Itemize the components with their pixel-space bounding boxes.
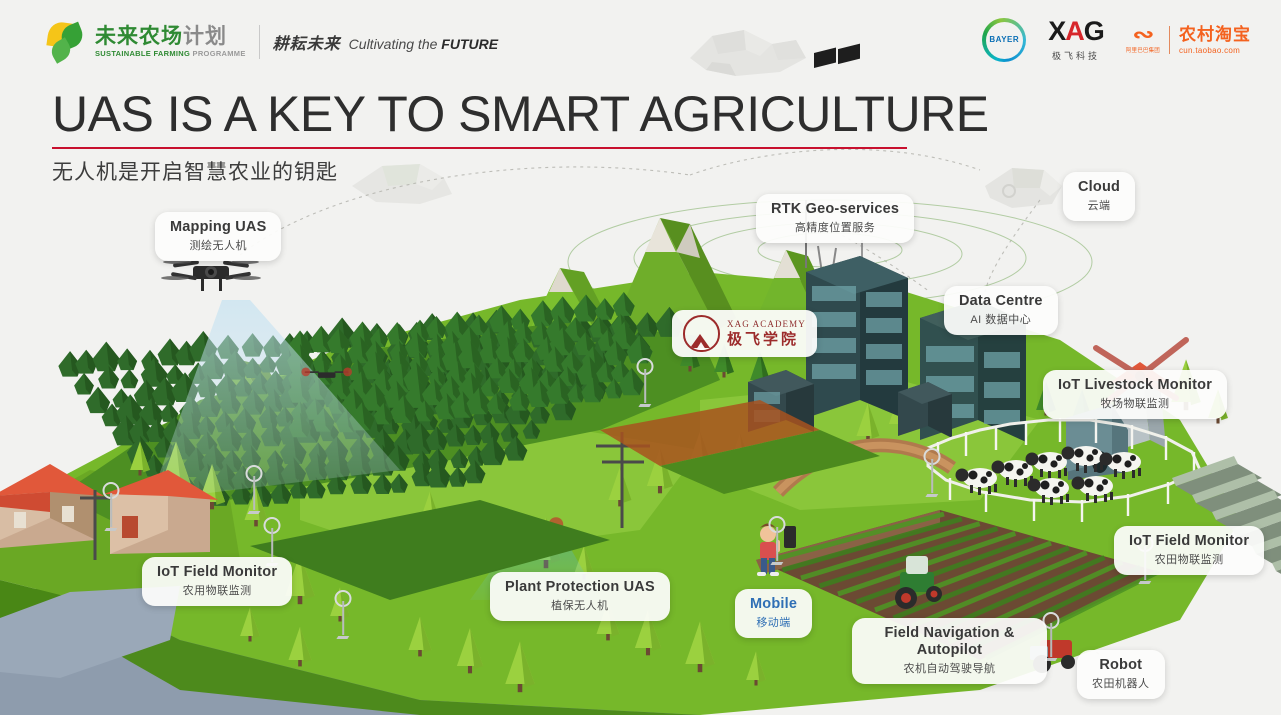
broadleaf-tree bbox=[117, 348, 137, 370]
mapping-drone bbox=[161, 260, 261, 291]
tower-building-1 bbox=[806, 256, 908, 420]
callout-field-navigation-autopilot[interactable]: Field Navigation & Autopilot农机自动驾驶导航 bbox=[852, 618, 1047, 684]
callout-title-en: RTK Geo-services bbox=[771, 201, 899, 218]
callout-iot-field-monitor-left[interactable]: IoT Field Monitor农用物联监测 bbox=[142, 557, 292, 606]
xag-academy-badge: XAG ACADEMY 极飞学院 bbox=[672, 310, 817, 357]
bayer-logo: BAYER bbox=[982, 18, 1026, 62]
academy-name-cn: 极飞学院 bbox=[727, 332, 806, 347]
programme-name-en: SUSTAINABLE FARMING PROGRAMME bbox=[95, 50, 246, 58]
programme-tagline: 耕耘未来 Cultivating the FUTURE bbox=[273, 30, 498, 54]
callout-title-en: Robot bbox=[1092, 657, 1150, 674]
xag-name-cn: 极飞科技 bbox=[1052, 49, 1100, 62]
callout-data-centre[interactable]: Data CentreAI 数据中心 bbox=[944, 286, 1058, 335]
callout-title-cn: 农田物联监测 bbox=[1129, 551, 1249, 567]
bayer-cross-text: BAYER bbox=[989, 36, 1019, 43]
cuntao-logo: ∾ 阿里巴巴集团 农村淘宝 cun.taobao.com bbox=[1126, 26, 1251, 55]
cuntao-divider bbox=[1169, 26, 1170, 54]
callout-title-cn: 农田机器人 bbox=[1092, 675, 1150, 691]
callout-title-en: Plant Protection UAS bbox=[505, 579, 655, 596]
callout-title-en: IoT Field Monitor bbox=[157, 564, 277, 581]
tagline-cn: 耕耘未来 bbox=[273, 30, 341, 54]
callout-title-cn: 农机自动驾驶导航 bbox=[867, 660, 1032, 676]
title-block: UAS IS A KEY TO SMART AGRICULTURE 无人机是开启… bbox=[52, 88, 989, 186]
cuntao-url: cun.taobao.com bbox=[1179, 46, 1251, 55]
callout-iot-livestock-monitor[interactable]: IoT Livestock Monitor牧场物联监测 bbox=[1043, 370, 1227, 419]
callout-cloud[interactable]: Cloud云端 bbox=[1063, 172, 1135, 221]
mountain-arch-icon bbox=[683, 315, 720, 352]
callout-mapping-uas[interactable]: Mapping UAS测绘无人机 bbox=[155, 212, 281, 261]
callout-title-en: IoT Field Monitor bbox=[1129, 533, 1249, 550]
xag-logo: XAG 极飞科技 bbox=[1048, 18, 1104, 62]
callout-title-en: Cloud bbox=[1078, 179, 1120, 196]
callout-robot[interactable]: Robot农田机器人 bbox=[1077, 650, 1165, 699]
sensor-pole-1 bbox=[247, 465, 261, 513]
alibaba-mark: ∾ 阿里巴巴集团 bbox=[1126, 26, 1160, 54]
academy-name-en: XAG ACADEMY bbox=[727, 320, 806, 329]
brand-divider bbox=[259, 25, 260, 59]
page-title: UAS IS A KEY TO SMART AGRICULTURE bbox=[52, 88, 989, 141]
callout-title-cn: 牧场物联监测 bbox=[1058, 395, 1212, 411]
callout-title-cn: 移动端 bbox=[750, 614, 797, 630]
taobao-glyph: ∾ bbox=[1132, 26, 1154, 44]
sensor-pole-10 bbox=[638, 358, 652, 406]
tagline-en: Cultivating the FUTURE bbox=[349, 36, 498, 52]
partner-logos: BAYER XAG 极飞科技 ∾ 阿里巴巴集团 农村淘宝 cun.taobao.… bbox=[982, 14, 1251, 66]
sensor-pole-5 bbox=[925, 448, 939, 496]
cloud-mesh-right bbox=[985, 168, 1062, 208]
broadleaf-tree bbox=[387, 322, 408, 344]
broadleaf-tree bbox=[93, 342, 120, 372]
slide-root: 未来农场计划 SUSTAINABLE FARMING PROGRAMME 耕耘未… bbox=[0, 0, 1281, 715]
cuntao-name-cn: 农村淘宝 bbox=[1179, 26, 1251, 43]
page-subtitle: 无人机是开启智慧农业的钥匙 bbox=[52, 156, 989, 186]
sensor-pole-4 bbox=[770, 516, 784, 564]
title-underline bbox=[52, 147, 907, 149]
xag-wordmark: XAG bbox=[1048, 18, 1104, 45]
leaf-logo-icon bbox=[48, 22, 88, 62]
callout-title-en: Mapping UAS bbox=[170, 219, 266, 236]
callout-title-en: Data Centre bbox=[959, 293, 1043, 310]
callout-title-en: Mobile bbox=[750, 596, 797, 613]
callout-iot-field-monitor-right[interactable]: IoT Field Monitor农田物联监测 bbox=[1114, 526, 1264, 575]
callout-rtk-geo-services[interactable]: RTK Geo-services高精度位置服务 bbox=[756, 194, 914, 243]
slide-header: 未来农场计划 SUSTAINABLE FARMING PROGRAMME 耕耘未… bbox=[0, 0, 1281, 82]
callout-plant-protection-uas[interactable]: Plant Protection UAS植保无人机 bbox=[490, 572, 670, 621]
callout-title-cn: 农用物联监测 bbox=[157, 582, 277, 598]
programme-name-cn: 未来农场计划 bbox=[95, 26, 246, 47]
alibaba-group-cn: 阿里巴巴集团 bbox=[1126, 46, 1160, 54]
broadleaf-tree bbox=[121, 369, 139, 388]
callout-title-cn: AI 数据中心 bbox=[959, 311, 1043, 327]
callout-title-cn: 测绘无人机 bbox=[170, 237, 266, 253]
callout-title-cn: 高精度位置服务 bbox=[771, 219, 899, 235]
programme-logo: 未来农场计划 SUSTAINABLE FARMING PROGRAMME 耕耘未… bbox=[48, 20, 498, 64]
callout-title-cn: 植保无人机 bbox=[505, 597, 655, 613]
callout-mobile[interactable]: Mobile移动端 bbox=[735, 589, 812, 638]
callout-title-cn: 云端 bbox=[1078, 197, 1120, 213]
callout-title-en: Field Navigation & Autopilot bbox=[867, 625, 1032, 659]
sensor-pole-2 bbox=[336, 590, 350, 638]
sensor-pole-9 bbox=[104, 482, 118, 530]
callout-title-en: IoT Livestock Monitor bbox=[1058, 377, 1212, 394]
